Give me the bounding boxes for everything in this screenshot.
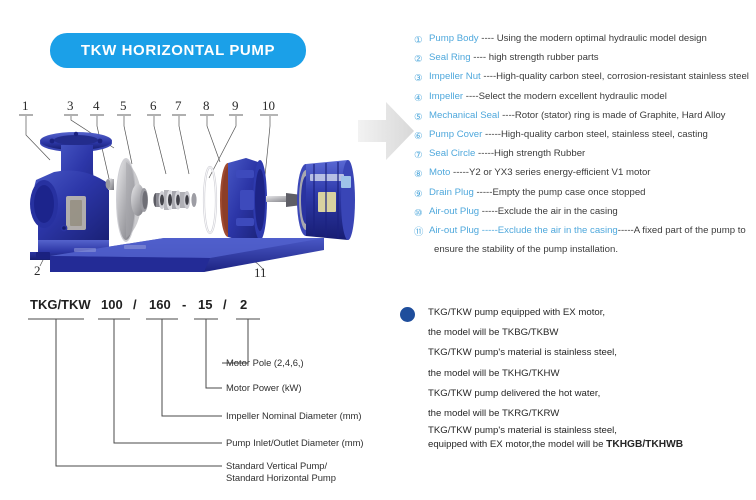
model-label-standard-horizontal: Standard Horizontal Pump: [226, 472, 336, 484]
callout-number-5: 5: [120, 98, 127, 114]
callout-number-3: 3: [67, 98, 74, 114]
legend-item: ③ Impeller Nut ----High-quality carbon s…: [414, 70, 756, 86]
legend-number: ⑪: [414, 224, 429, 238]
legend-item: ① Pump Body ---- Using the modern optima…: [414, 32, 756, 48]
legend-text: Seal Circle -----High strength Rubber: [429, 147, 585, 160]
callout-number-7: 7: [175, 98, 182, 114]
callout-number-10: 10: [262, 98, 275, 114]
legend-item: ② Seal Ring ---- high strength rubber pa…: [414, 51, 756, 67]
model-label-motor-pole: Motor Pole (2,4,6,): [226, 357, 304, 369]
page-root: TKW HORIZONTAL PUMP: [0, 0, 756, 500]
note-line-last: equipped with EX motor,the model will be…: [400, 438, 750, 452]
model-label-impeller-diameter: Impeller Nominal Diameter (mm): [226, 410, 361, 422]
note-line: TKG/TKW pump's material is stainless ste…: [400, 343, 750, 363]
legend-text: Mechanical Seal ----Rotor (stator) ring …: [429, 109, 725, 122]
legend-text: Seal Ring ---- high strength rubber part…: [429, 51, 599, 64]
legend-item: ⑦ Seal Circle -----High strength Rubber: [414, 147, 756, 163]
note-line: TKG/TKW pump delivered the hot water,: [400, 384, 750, 404]
callout-number-6: 6: [150, 98, 157, 114]
note-last-prefix: equipped with EX motor,the model will be: [428, 439, 606, 450]
legend-text: Impeller ----Select the modern excellent…: [429, 90, 667, 103]
legend-number: ⑨: [414, 186, 429, 200]
legend-item: ⑩ Air-out Plug -----Exclude the air in t…: [414, 205, 756, 221]
callout-number-4: 4: [93, 98, 100, 114]
parts-legend-list: ① Pump Body ---- Using the modern optima…: [414, 32, 756, 256]
note-line: the model will be TKHG/TKHW: [400, 364, 750, 384]
legend-number: ⑤: [414, 109, 429, 123]
legend-item: ④ Impeller ----Select the modern excelle…: [414, 90, 756, 106]
legend-number: ⑩: [414, 205, 429, 219]
page-title-banner: TKW HORIZONTAL PUMP: [50, 33, 306, 68]
legend-number: ④: [414, 90, 429, 104]
legend-number: ②: [414, 51, 429, 65]
legend-text: Air-out Plug -----Exclude the air in the…: [429, 224, 746, 237]
model-label-motor-power: Motor Power (kW): [226, 382, 302, 394]
pump-assembly-illustration: [14, 100, 364, 285]
legend-text: Pump Cover -----High-quality carbon stee…: [429, 128, 708, 141]
note-line: TKG/TKW pump's material is stainless ste…: [400, 424, 750, 438]
legend-item-wrap-line: ensure the stability of the pump install…: [414, 243, 756, 256]
legend-item: ⑨ Drain Plug -----Empty the pump case on…: [414, 186, 756, 202]
legend-item: ⑧ Moto -----Y2 or YX3 series energy-effi…: [414, 166, 756, 182]
legend-number: ③: [414, 70, 429, 84]
callout-number-1: 1: [22, 98, 29, 114]
callout-number-11: 11: [254, 265, 267, 281]
right-arrow: [358, 98, 414, 164]
legend-text: Pump Body ---- Using the modern optimal …: [429, 32, 707, 45]
exploded-pump-diagram: 1 3 4 5 6 7 8 9 10 2 11: [14, 100, 364, 285]
model-variant-notes: TKG/TKW pump equipped with EX motor, the…: [400, 303, 750, 452]
legend-number: ⑦: [414, 147, 429, 161]
legend-number: ①: [414, 32, 429, 46]
model-label-standard-vertical: Standard Vertical Pump/: [226, 460, 327, 472]
model-label-inlet-diameter: Pump Inlet/Outlet Diameter (mm): [226, 437, 364, 449]
note-line: the model will be TKBG/TKBW: [400, 323, 750, 343]
note-last-bold: TKHGB/TKHWB: [606, 439, 683, 450]
bullet-dot-icon: [400, 307, 415, 322]
legend-item: ⑥ Pump Cover -----High-quality carbon st…: [414, 128, 756, 144]
callout-number-9: 9: [232, 98, 239, 114]
legend-text: Drain Plug -----Empty the pump case once…: [429, 186, 646, 199]
callout-number-8: 8: [203, 98, 210, 114]
legend-text: Impeller Nut ----High-quality carbon ste…: [429, 70, 749, 83]
model-designation-diagram: TKG/TKW 100 / 160 - 15 / 2: [14, 297, 394, 497]
note-line: TKG/TKW pump equipped with EX motor,: [400, 303, 750, 323]
callout-number-2: 2: [34, 263, 41, 279]
legend-text: Moto -----Y2 or YX3 series energy-effici…: [429, 166, 650, 179]
legend-number: ⑥: [414, 128, 429, 142]
note-line: the model will be TKRG/TKRW: [400, 404, 750, 424]
legend-number: ⑧: [414, 166, 429, 180]
page-title: TKW HORIZONTAL PUMP: [81, 42, 275, 59]
legend-text: Air-out Plug -----Exclude the air in the…: [429, 205, 618, 218]
legend-item: ⑪ Air-out Plug -----Exclude the air in t…: [414, 224, 756, 240]
model-leader-lines: [14, 297, 394, 497]
legend-item: ⑤ Mechanical Seal ----Rotor (stator) rin…: [414, 109, 756, 125]
